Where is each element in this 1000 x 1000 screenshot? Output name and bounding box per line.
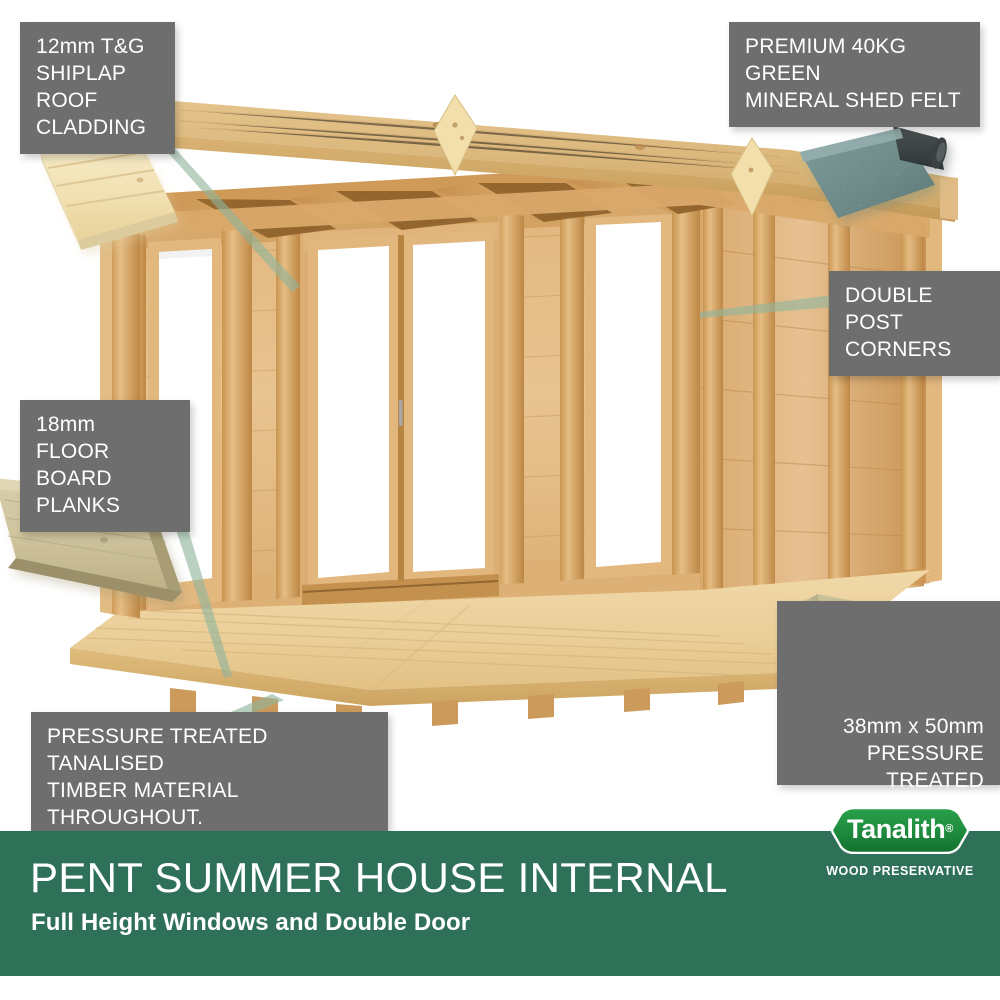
page-subtitle: Full Height Windows and Double Door: [31, 909, 470, 937]
tanalith-logo: Tanalith® WOOD PRESERVATIVE: [826, 806, 974, 898]
right-wall: [700, 172, 942, 615]
callout-floor-boards: 18mm FLOOR BOARD PLANKS: [20, 400, 190, 532]
tanalith-tagline: WOOD PRESERVATIVE: [826, 864, 974, 878]
callout-framing: 38mm x 50mm PRESSURE TREATED FRAMING: [777, 601, 1000, 785]
callout-shed-felt: PREMIUM 40KG GREEN MINERAL SHED FELT: [729, 22, 980, 127]
callout-roof-cladding: 12mm T&G SHIPLAP ROOF CLADDING: [20, 22, 175, 154]
callout-double-post-corners: DOUBLE POST CORNERS: [829, 271, 1000, 376]
page-title: PENT SUMMER HOUSE INTERNAL: [30, 855, 728, 901]
tanalith-name: Tanalith: [847, 814, 945, 845]
double-door: [300, 186, 500, 606]
window-right: [585, 177, 672, 579]
product-illustration-page: 12mm T&G SHIPLAP ROOF CLADDING PREMIUM 4…: [0, 0, 1000, 1000]
window-wall-frame: [118, 172, 700, 612]
registered-mark-icon: ®: [945, 823, 953, 835]
callout-pressure-treated: PRESSURE TREATED TANALISED TIMBER MATERI…: [31, 712, 388, 844]
tanalith-wordmark: Tanalith®: [826, 806, 974, 854]
